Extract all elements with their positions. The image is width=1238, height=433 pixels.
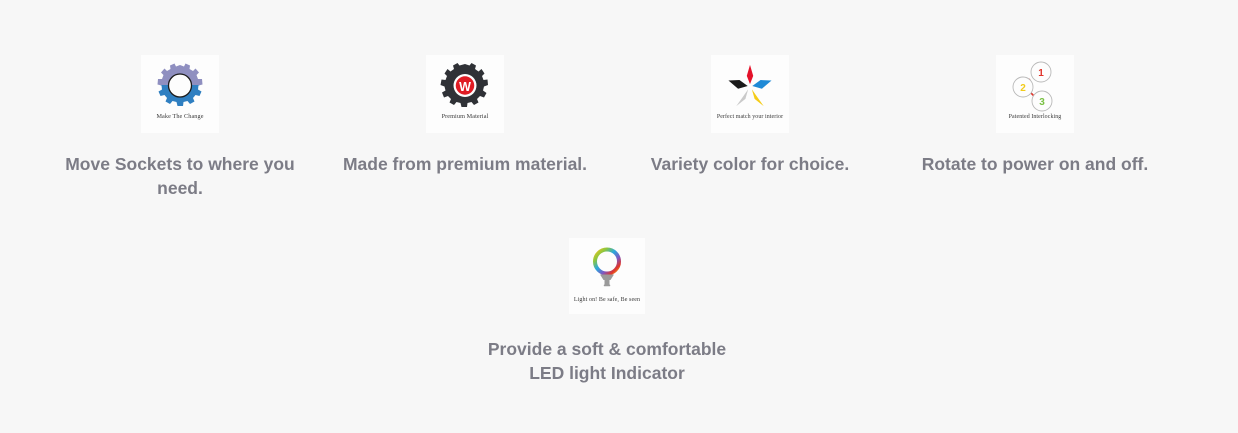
rainbow-lightbulb-icon (569, 244, 645, 294)
circle-number-1: 1 (1038, 68, 1044, 79)
icon-tile[interactable]: Light on! Be safe, Be seen (569, 238, 645, 314)
interlocking-circles-icon: 1 2 3 (996, 61, 1074, 111)
circle-number-2: 2 (1020, 83, 1026, 94)
feature-heading: Provide a soft & comfortable LED light I… (487, 337, 727, 385)
icon-tile[interactable]: 1 2 3 Patented Interlocking (996, 55, 1074, 133)
circle-number-3: 3 (1039, 97, 1045, 108)
feature-item-variety-color[interactable]: Perfect match your interior Variety colo… (615, 55, 885, 176)
feature-heading: Rotate to power on and off. (900, 152, 1170, 176)
icon-caption: Premium Material (442, 113, 489, 121)
feature-heading: Variety color for choice. (615, 152, 885, 176)
feature-heading: Move Sockets to where you need. (45, 152, 315, 200)
feature-item-make-the-change[interactable]: Make The Change Move Sockets to where yo… (45, 55, 315, 200)
feature-item-premium-material[interactable]: W Premium Material Made from premium mat… (330, 55, 600, 176)
two-tone-gear-icon (141, 61, 219, 111)
icon-tile[interactable]: Perfect match your interior (711, 55, 789, 133)
icon-caption: Light on! Be safe, Be seen (574, 296, 640, 304)
feature-grid: Make The Change Move Sockets to where yo… (0, 0, 1238, 433)
feature-item-led-light[interactable]: Light on! Be safe, Be seen Provide a sof… (472, 238, 742, 385)
icon-tile[interactable]: Make The Change (141, 55, 219, 133)
icon-caption: Make The Change (156, 113, 203, 121)
icon-tile[interactable]: W Premium Material (426, 55, 504, 133)
icon-caption: Perfect match your interior (717, 113, 783, 121)
icon-caption: Patented Interlocking (1009, 113, 1062, 121)
svg-text:W: W (459, 79, 471, 93)
gear-w-badge-icon: W (426, 61, 504, 111)
feature-heading: Made from premium material. (330, 152, 600, 176)
feature-item-patented-interlocking[interactable]: 1 2 3 Patented Interlocking Rotate to po… (900, 55, 1170, 176)
color-pinwheel-star-icon (711, 61, 789, 111)
